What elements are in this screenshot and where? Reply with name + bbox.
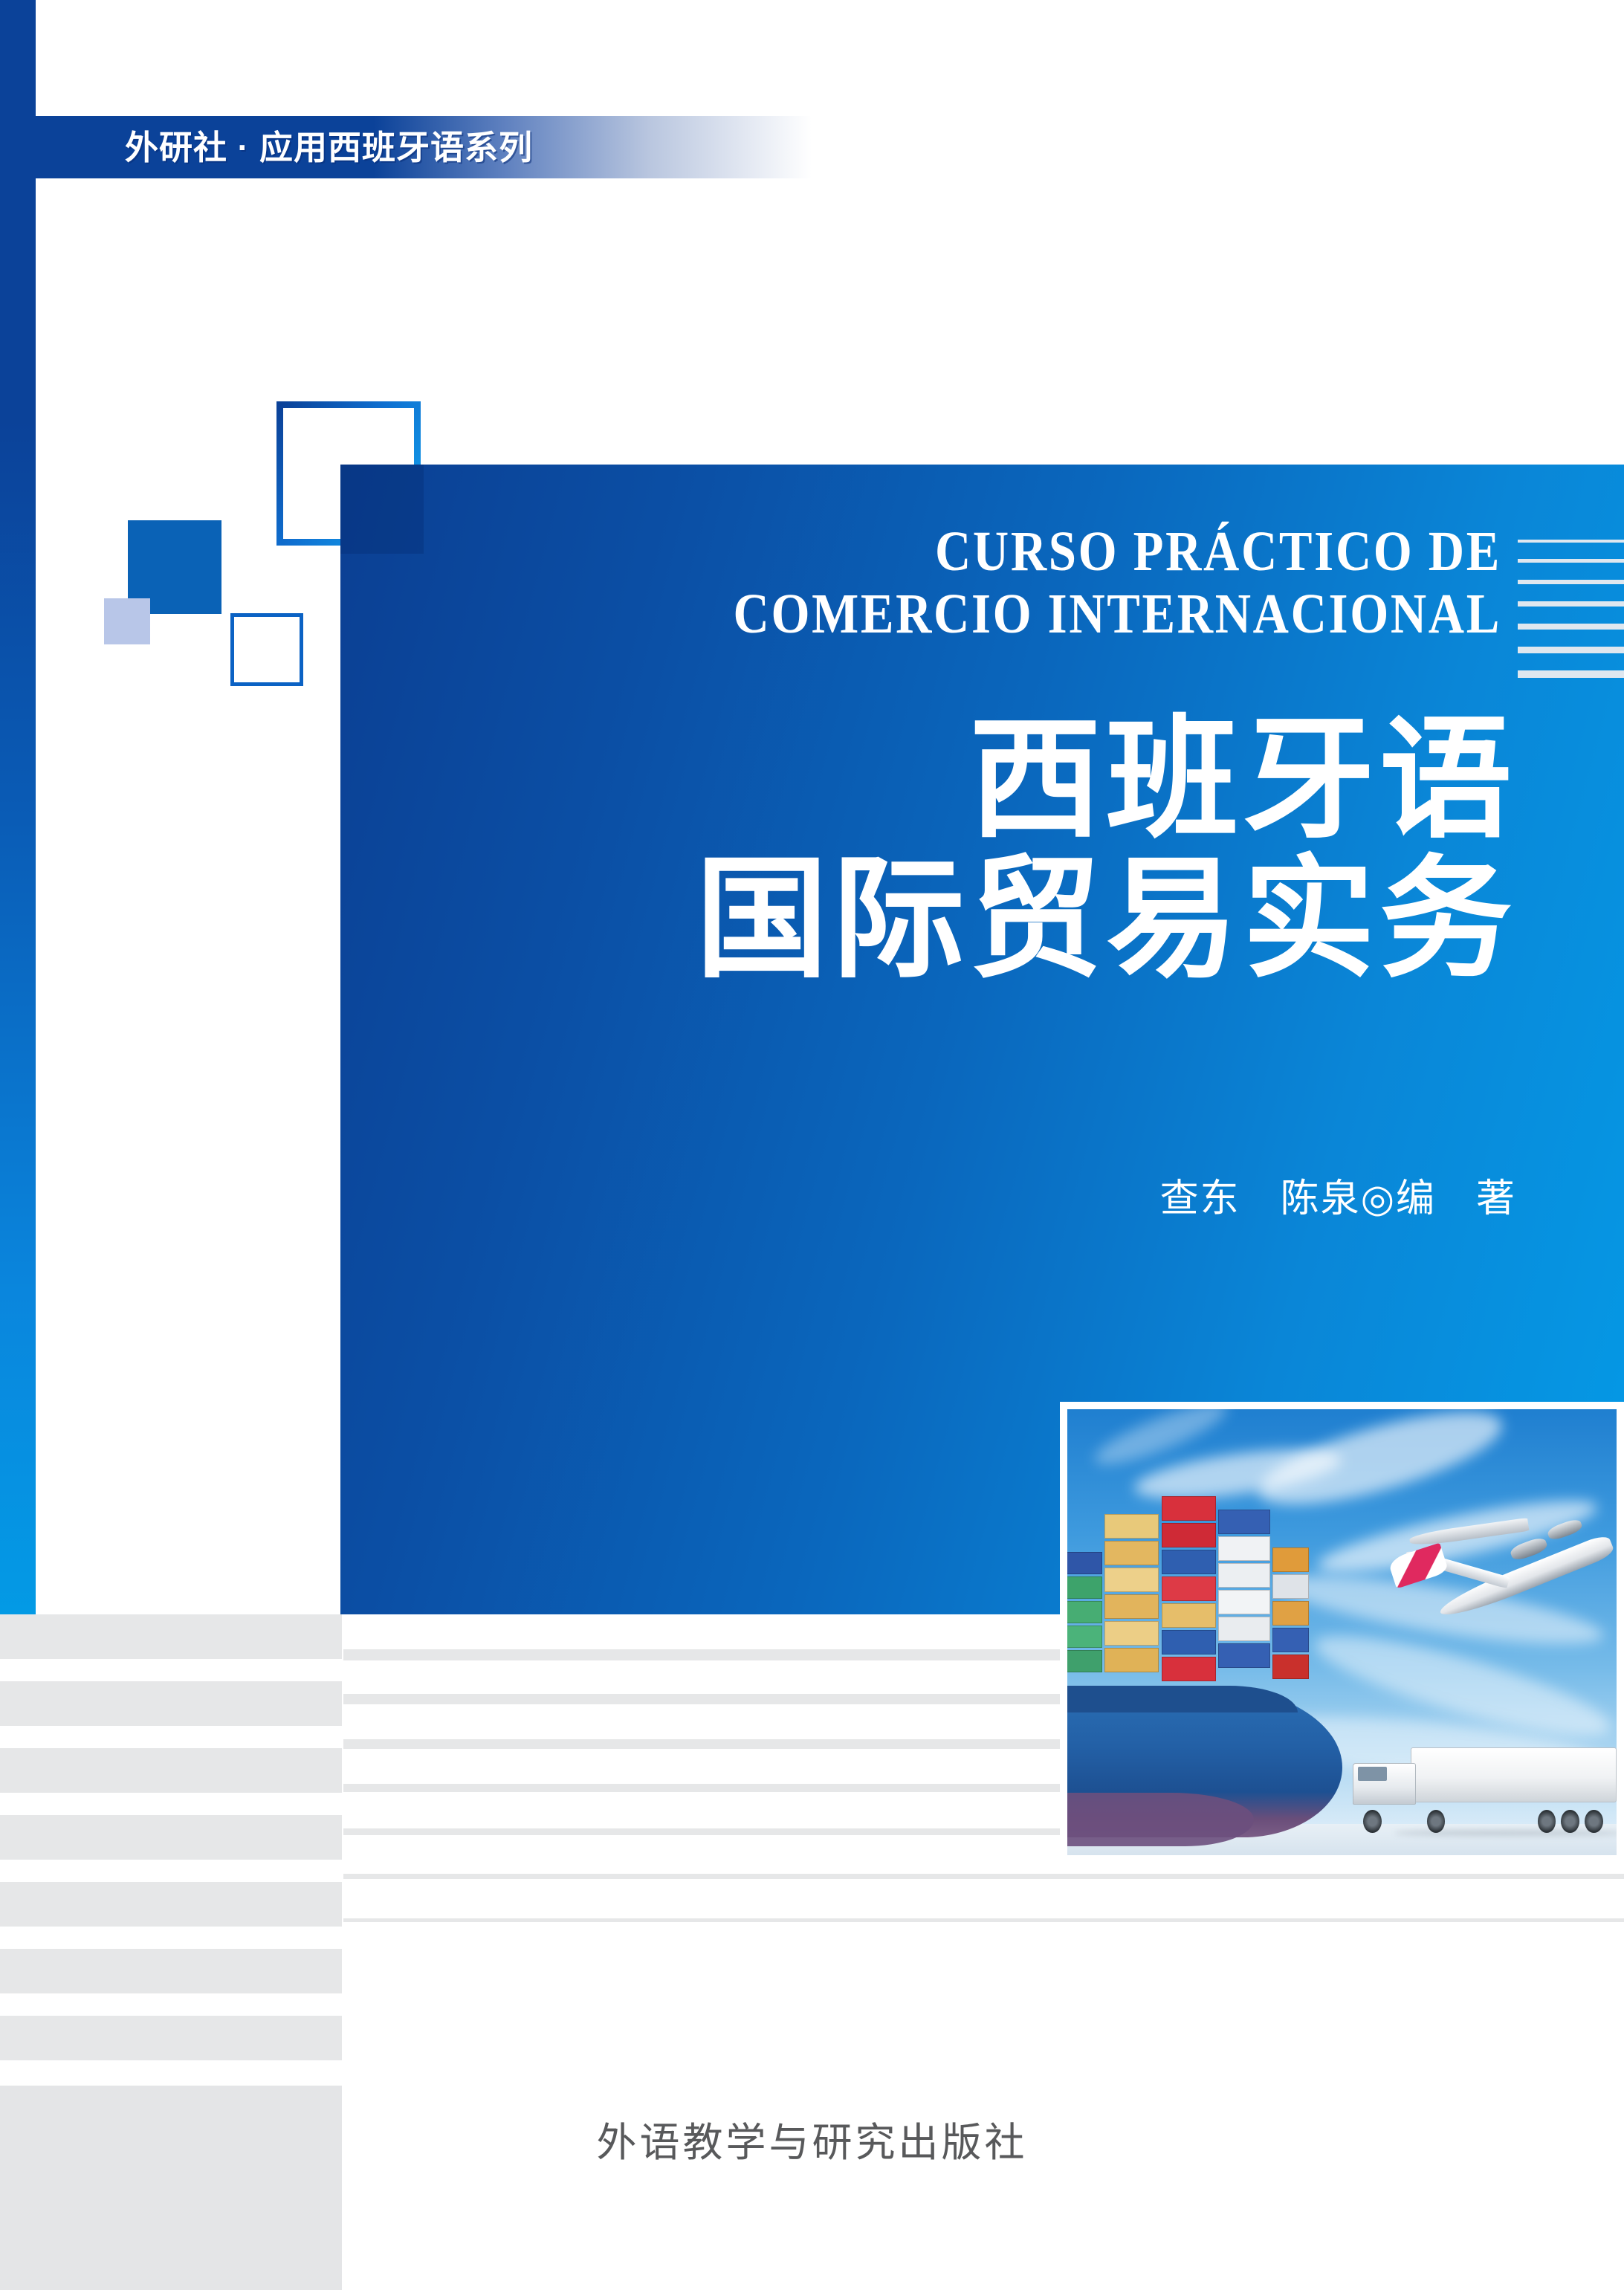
shipping-container bbox=[1162, 1550, 1216, 1574]
delivery-truck bbox=[1353, 1744, 1617, 1833]
shipping-container bbox=[1067, 1626, 1102, 1648]
truck-wheel bbox=[1363, 1810, 1382, 1833]
stripe-band bbox=[0, 1949, 342, 1993]
rule-line bbox=[1518, 647, 1624, 653]
decor-rule-lines bbox=[1518, 540, 1624, 682]
shipping-container bbox=[1218, 1510, 1269, 1534]
shipping-container bbox=[1162, 1630, 1216, 1655]
stripe-band bbox=[0, 1815, 342, 1860]
stripe-band bbox=[0, 2016, 342, 2060]
stripe-band bbox=[0, 1748, 342, 1793]
decor-square-outline-blue bbox=[230, 613, 303, 686]
chinese-main-title: 西班牙语 国际贸易实务 bbox=[461, 710, 1516, 989]
airplane-engine bbox=[1546, 1518, 1583, 1542]
spanish-title-line-2: COMERCIO INTERNACIONAL bbox=[546, 583, 1501, 645]
logistics-photo bbox=[1067, 1409, 1617, 1855]
truck-windshield bbox=[1358, 1767, 1387, 1781]
stripe-left-column bbox=[0, 1614, 342, 2290]
stripe-line bbox=[343, 1874, 1624, 1879]
stripe-band bbox=[0, 1681, 342, 1726]
shipping-container bbox=[1104, 1594, 1159, 1619]
truck-wheel bbox=[1561, 1810, 1579, 1833]
decor-square-solid-pale bbox=[104, 598, 150, 644]
ship-bow bbox=[1067, 1793, 1254, 1846]
shipping-container bbox=[1104, 1621, 1159, 1646]
chinese-title-line-1: 西班牙语 bbox=[461, 710, 1516, 850]
airplane-tail-fin bbox=[1387, 1542, 1449, 1588]
series-banner-label: 外研社 · 应用西班牙语系列 bbox=[125, 122, 533, 174]
stripe-band bbox=[0, 1614, 342, 1659]
shipping-container bbox=[1218, 1617, 1269, 1641]
rule-line bbox=[1518, 559, 1624, 563]
shipping-container bbox=[1218, 1563, 1269, 1588]
shipping-container bbox=[1162, 1603, 1216, 1628]
truck-shadow bbox=[1395, 1830, 1617, 1835]
shipping-container bbox=[1272, 1601, 1309, 1626]
shipping-container bbox=[1218, 1643, 1269, 1668]
shipping-container bbox=[1104, 1514, 1159, 1539]
shipping-container bbox=[1272, 1655, 1309, 1679]
shipping-container bbox=[1272, 1628, 1309, 1652]
spanish-title: CURSO PRÁCTICO DE COMERCIO INTERNACIONAL bbox=[546, 520, 1501, 645]
shipping-container bbox=[1272, 1547, 1309, 1572]
chinese-title-line-2: 国际贸易实务 bbox=[461, 850, 1516, 989]
rule-line bbox=[1518, 540, 1624, 543]
shipping-container bbox=[1067, 1601, 1102, 1623]
publisher-name: 外语教学与研究出版社 bbox=[0, 2109, 1624, 2168]
truck-wheel bbox=[1538, 1810, 1556, 1833]
shipping-container bbox=[1218, 1590, 1269, 1614]
container-stack bbox=[1067, 1472, 1304, 1695]
truck-wheel bbox=[1585, 1810, 1603, 1833]
airplane-wing bbox=[1408, 1518, 1529, 1548]
spanish-title-line-1: CURSO PRÁCTICO DE bbox=[935, 520, 1501, 583]
book-cover: 外研社 · 应用西班牙语系列 CURSO PRÁCTICO DE COMERCI… bbox=[0, 0, 1624, 2290]
shipping-container bbox=[1104, 1541, 1159, 1565]
rule-line bbox=[1518, 670, 1624, 678]
cargo-airplane bbox=[1386, 1481, 1617, 1632]
shipping-container bbox=[1272, 1574, 1309, 1599]
panel-corner-shade bbox=[340, 465, 424, 554]
shipping-container bbox=[1162, 1496, 1216, 1521]
shipping-container bbox=[1067, 1576, 1102, 1599]
rule-line bbox=[1518, 601, 1624, 607]
truck-trailer bbox=[1411, 1747, 1617, 1802]
cover-photo-frame bbox=[1060, 1402, 1624, 1863]
left-accent-bar bbox=[0, 0, 36, 1614]
rule-line bbox=[1518, 624, 1624, 630]
shipping-container bbox=[1162, 1576, 1216, 1601]
rule-line bbox=[1518, 580, 1624, 584]
shipping-container bbox=[1162, 1523, 1216, 1547]
stripe-line bbox=[343, 1918, 1624, 1922]
stripe-band bbox=[0, 1882, 342, 1927]
shipping-container bbox=[1067, 1650, 1102, 1672]
shipping-container bbox=[1162, 1657, 1216, 1681]
shipping-container bbox=[1218, 1536, 1269, 1561]
truck-wheel bbox=[1427, 1810, 1446, 1833]
shipping-container bbox=[1104, 1568, 1159, 1592]
author-line: 查东 陈泉◎编 著 bbox=[818, 1167, 1516, 1223]
shipping-container bbox=[1067, 1552, 1102, 1574]
shipping-container bbox=[1104, 1648, 1159, 1672]
